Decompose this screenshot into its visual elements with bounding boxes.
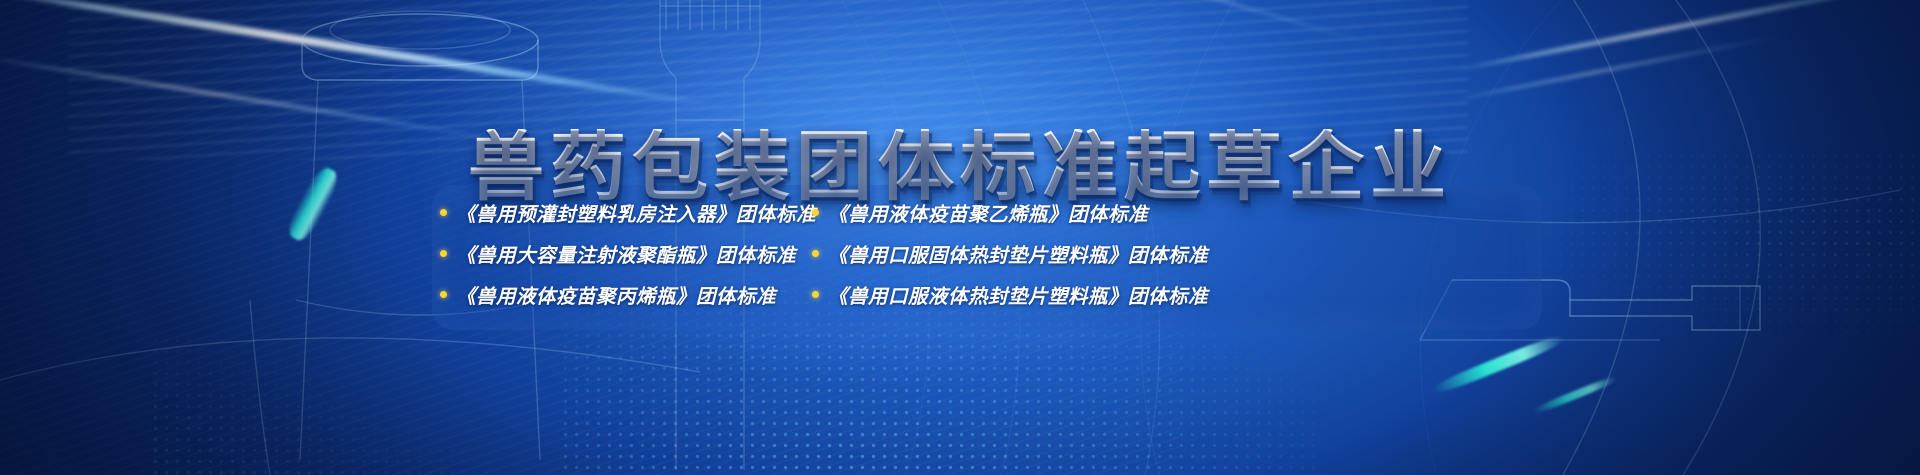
bullet-dot-icon — [812, 291, 819, 298]
standard-label: 《兽用口服固体热封垫片塑料瓶》团体标准 — [828, 239, 1208, 268]
standard-label: 《兽用液体疫苗聚乙烯瓶》团体标准 — [828, 198, 1148, 227]
cyan-accent-streak-3 — [1532, 374, 1618, 415]
light-beam-5 — [988, 0, 1393, 51]
list-item: 《兽用液体疫苗聚乙烯瓶》团体标准 — [804, 198, 1562, 227]
standard-label: 《兽用预灌封塑料乳房注入器》团体标准 — [456, 198, 816, 227]
list-item: 《兽用预灌封塑料乳房注入器》团体标准 — [432, 198, 804, 227]
bullet-dot-icon — [812, 209, 819, 216]
list-item: 《兽用大容量注射液聚酯瓶》团体标准 — [432, 239, 804, 268]
bullet-dot-icon — [440, 209, 447, 216]
standard-label: 《兽用液体疫苗聚丙烯瓶》团体标准 — [456, 280, 776, 309]
bullet-dot-icon — [812, 250, 819, 257]
list-item: 《兽用液体疫苗聚丙烯瓶》团体标准 — [432, 280, 804, 309]
standard-label: 《兽用口服液体热封垫片塑料瓶》团体标准 — [828, 280, 1208, 309]
list-item: 《兽用口服固体热封垫片塑料瓶》团体标准 — [804, 239, 1562, 268]
promotional-banner: 兽药包装团体标准起草企业 《兽用预灌封塑料乳房注入器》团体标准 《兽用液体疫苗聚… — [0, 0, 1920, 475]
standards-list: 《兽用预灌封塑料乳房注入器》团体标准 《兽用液体疫苗聚乙烯瓶》团体标准 《兽用大… — [432, 192, 1562, 315]
standard-label: 《兽用大容量注射液聚酯瓶》团体标准 — [456, 239, 796, 268]
list-item: 《兽用口服液体热封垫片塑料瓶》团体标准 — [804, 280, 1562, 309]
bullet-dot-icon — [440, 291, 447, 298]
light-beam-3 — [1444, 0, 1920, 75]
bullet-dot-icon — [440, 250, 447, 257]
halftone-dots-left — [150, 335, 490, 475]
cyan-accent-streak-2 — [1431, 332, 1566, 396]
